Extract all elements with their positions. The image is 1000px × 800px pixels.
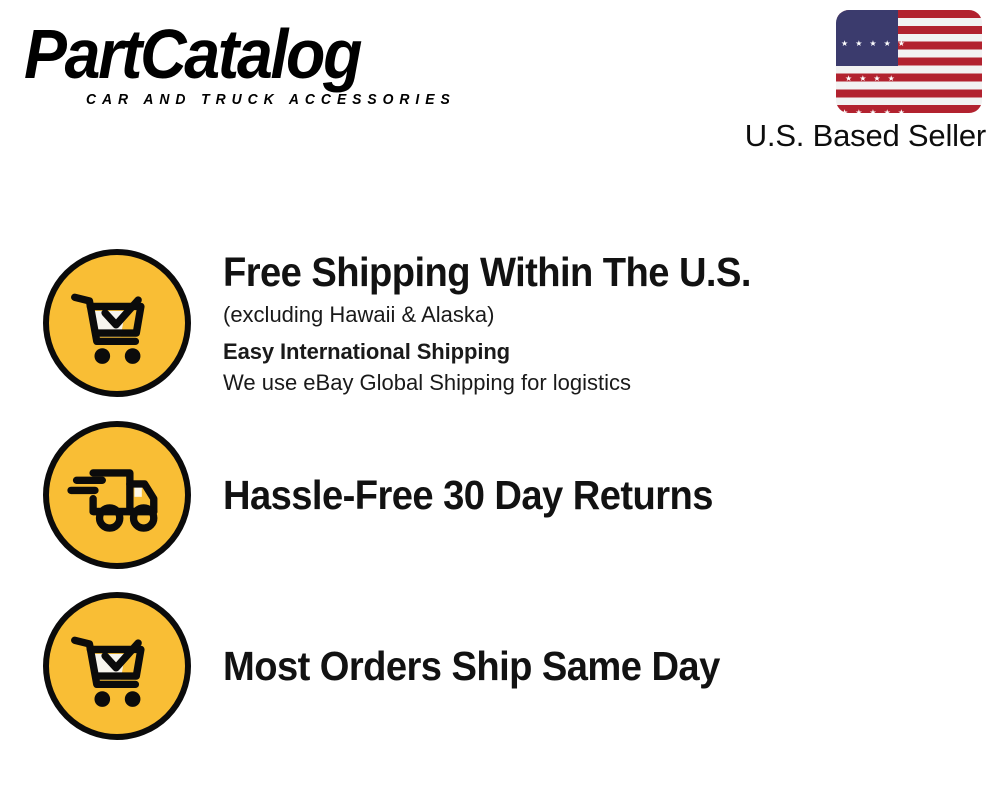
feature-subtitle-exclusion: (excluding Hawaii & Alaska) — [223, 299, 980, 330]
us-based-seller-label: U.S. Based Seller — [745, 117, 986, 155]
us-flag-icon: ★ ★ ★ ★ ★ ★ ★ ★ ★ ★ ★ ★ ★ ★ ★ ★ ★ ★ ★ ★ … — [836, 10, 982, 113]
brand-logo[interactable]: PartCatalog CAR AND TRUCK ACCESSORIES — [24, 18, 494, 113]
feature-text: Hassle-Free 30 Day Returns — [223, 472, 1000, 518]
feature-row: Free Shipping Within The U.S. (excluding… — [0, 248, 1000, 398]
delivery-truck-icon — [43, 421, 191, 569]
feature-row: Hassle-Free 30 Day Returns — [0, 420, 1000, 570]
feature-title: Most Orders Ship Same Day — [223, 643, 927, 689]
flag-star-row: ★ ★ ★ ★ ★ — [841, 107, 898, 113]
flag-star-row: ★ ★ ★ ★ ★ — [841, 38, 898, 50]
feature-title: Hassle-Free 30 Day Returns — [223, 472, 927, 518]
feature-subtitle-international: Easy International Shipping — [223, 336, 980, 367]
feature-subtitle-logistics: We use eBay Global Shipping for logistic… — [223, 367, 980, 398]
flag-star-row: ★ ★ ★ ★ — [841, 73, 898, 85]
feature-title: Free Shipping Within The U.S. — [223, 249, 927, 295]
feature-text: Free Shipping Within The U.S. (excluding… — [223, 249, 1000, 398]
page-header: PartCatalog CAR AND TRUCK ACCESSORIES ★ … — [0, 0, 1000, 160]
shopping-cart-check-icon — [43, 249, 191, 397]
feature-row: Most Orders Ship Same Day — [0, 591, 1000, 741]
shopping-cart-check-icon — [43, 592, 191, 740]
brand-wordmark: PartCatalog — [24, 18, 360, 90]
feature-text: Most Orders Ship Same Day — [223, 643, 1000, 689]
us-based-seller-badge: ★ ★ ★ ★ ★ ★ ★ ★ ★ ★ ★ ★ ★ ★ ★ ★ ★ ★ ★ ★ … — [836, 10, 986, 113]
flag-stars: ★ ★ ★ ★ ★ ★ ★ ★ ★ ★ ★ ★ ★ ★ ★ ★ ★ ★ ★ ★ … — [836, 10, 898, 66]
brand-tagline: CAR AND TRUCK ACCESSORIES — [86, 92, 456, 108]
